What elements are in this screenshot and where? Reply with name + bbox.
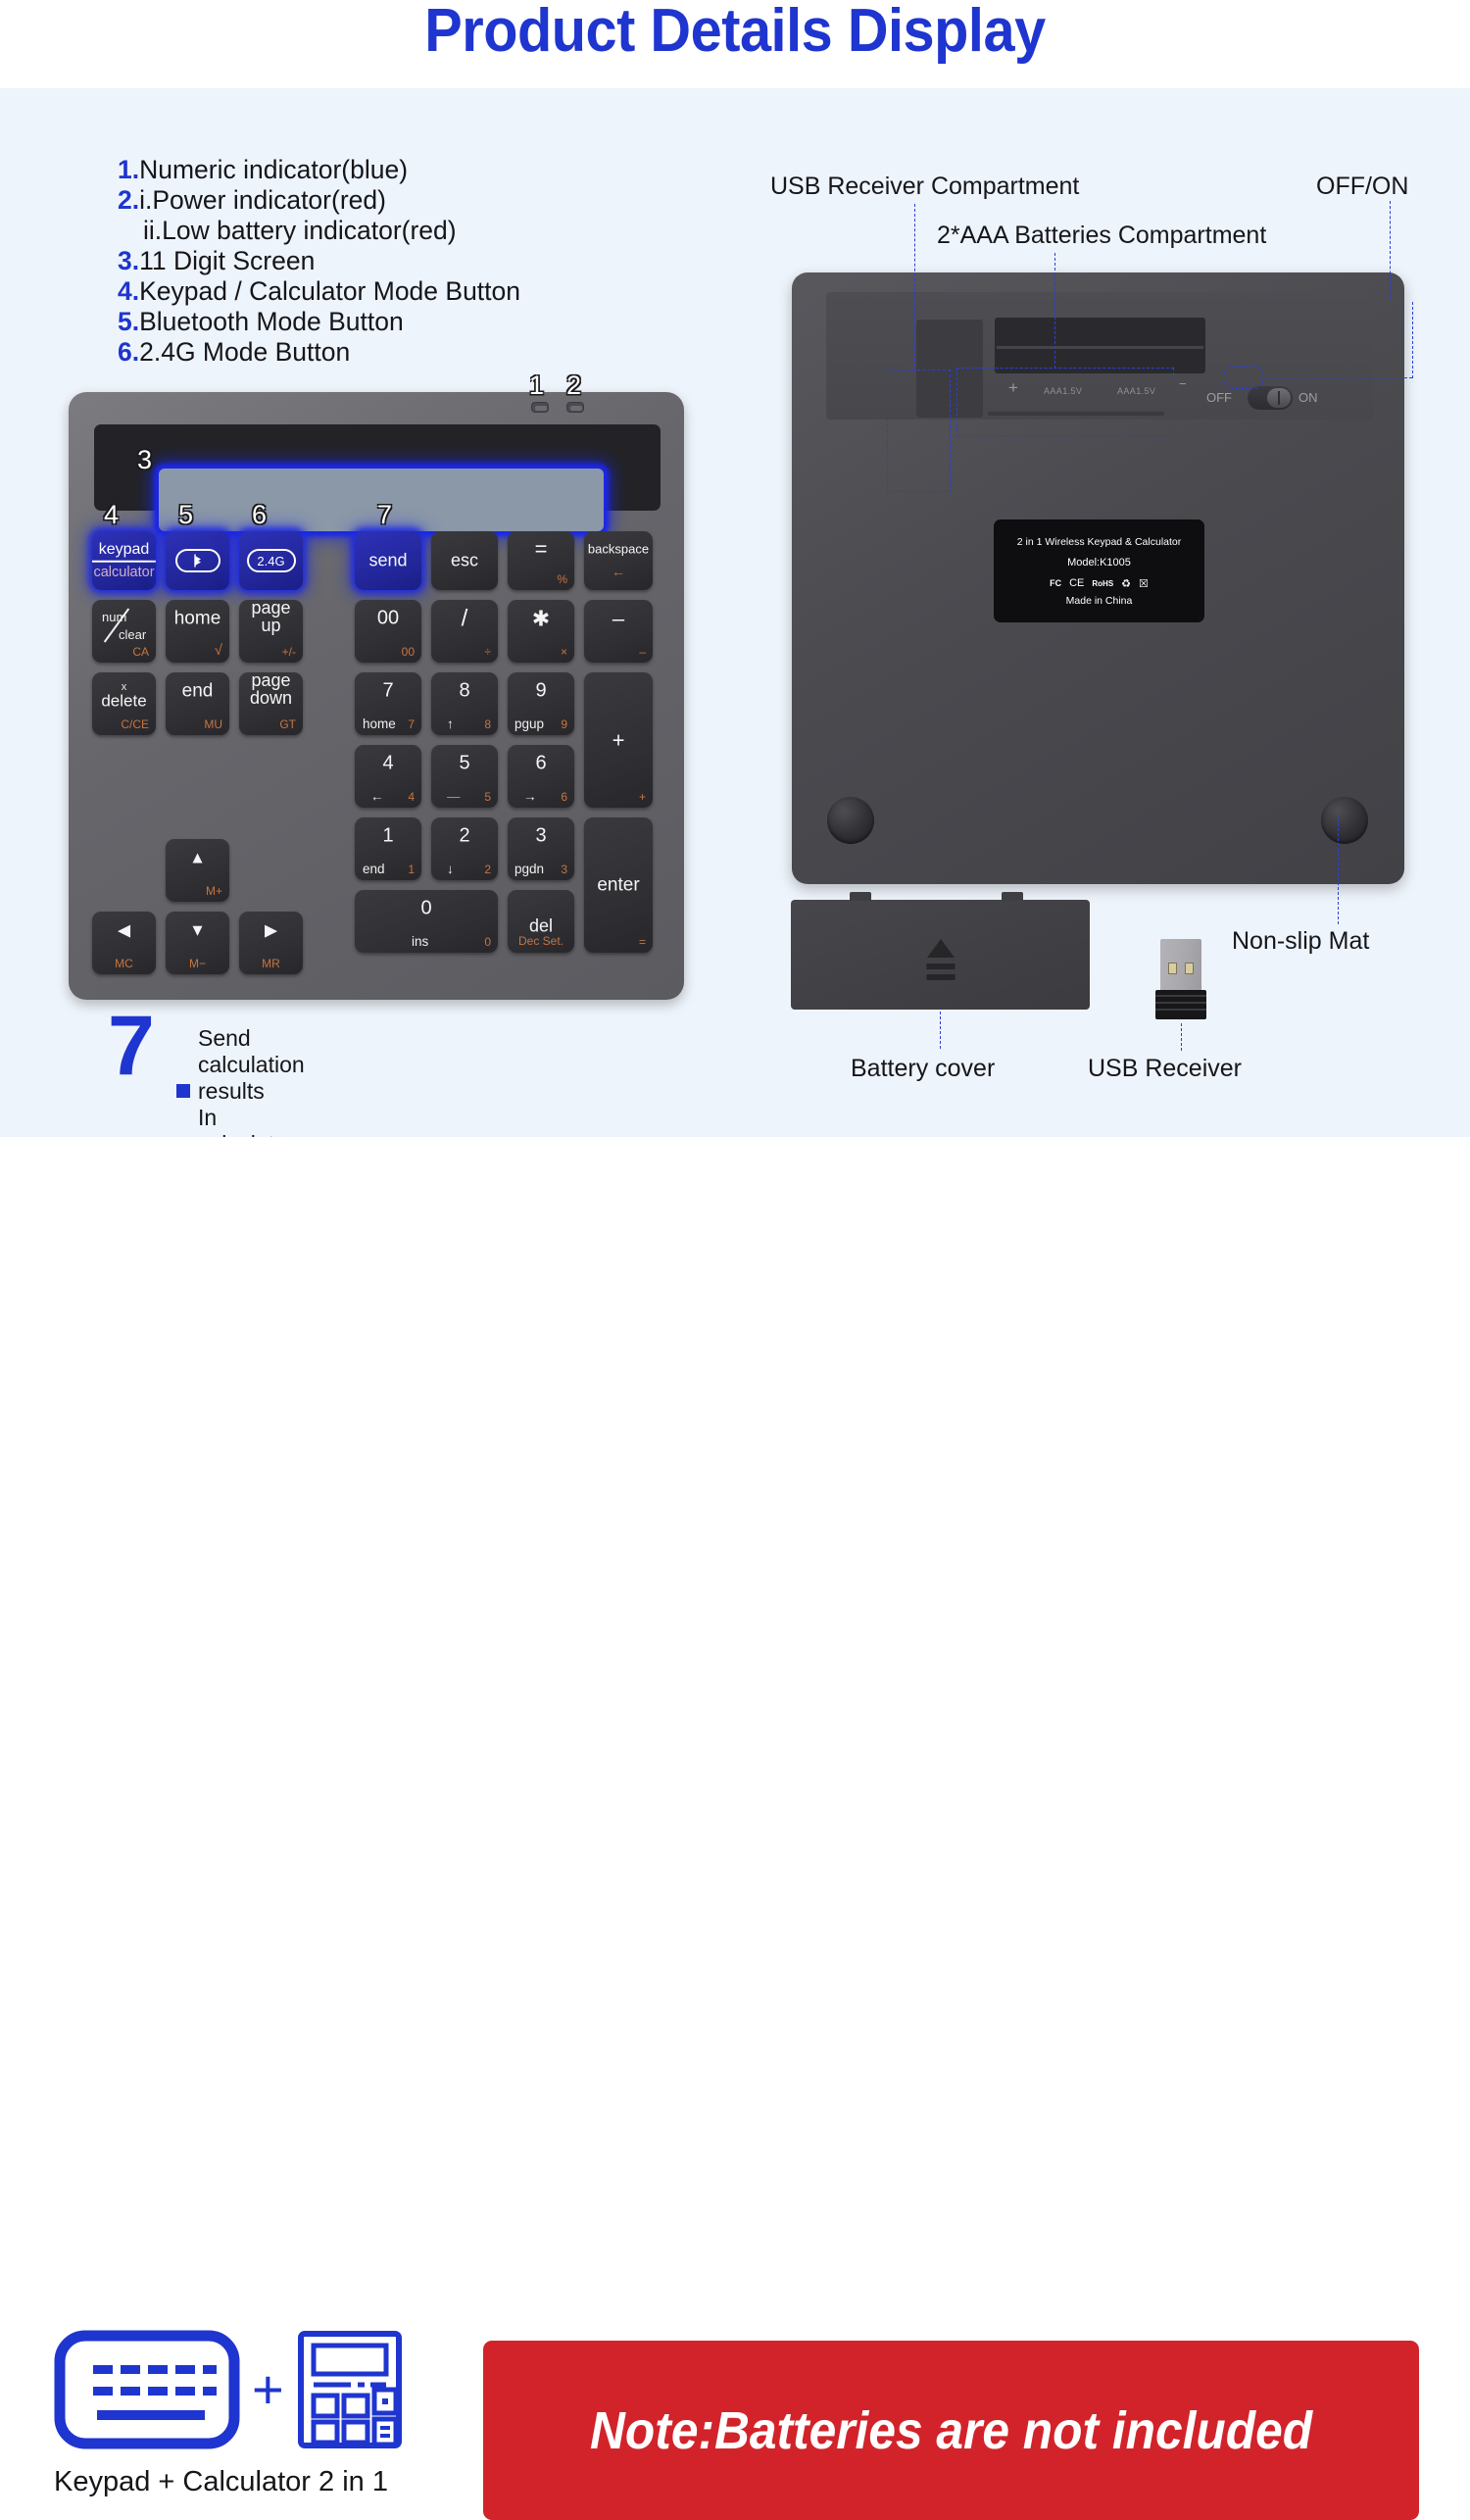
key-sub-end: end [363,862,385,876]
key-1[interactable]: 1 end 1 [355,817,421,880]
key-sub-dash: — [447,789,461,804]
key-arrow-down[interactable]: ▼ M− [166,912,229,974]
legend-number: 2. [118,185,139,215]
key-label-delete: delete [92,692,156,711]
key-equals[interactable]: = % [508,531,574,590]
keypad-body: keypad calculator 2.4G send [69,392,684,1000]
key-arrow-left[interactable]: ◀ MC [92,912,156,974]
recycle-icon: ♻ [1121,577,1131,590]
key-7[interactable]: 7 home 7 [355,672,421,735]
numeric-indicator-led [531,402,549,413]
leader-off-on [1390,201,1391,299]
key-label-up: up [261,616,280,635]
keypad-back-figure: + AAA1.5V AAA1.5V − OFF ON 2 in 1 Wirele… [782,263,1419,895]
bluetooth-icon [175,549,220,572]
annotation-off-on: OFF/ON [1316,173,1408,201]
keyboard-icon [54,2330,240,2449]
annotation-non-slip-mat: Non-slip Mat [1232,927,1369,956]
combo-caption: Keypad + Calculator 2 in 1 [54,2466,388,2498]
guide-switch-leader-h [1262,377,1412,378]
key-label-backspace: backspace [584,540,653,559]
key-send[interactable]: send [355,531,421,590]
key-sub-ca: CA [132,645,149,659]
legend-number: 3. [118,246,139,275]
key-sub-6: 6 [561,790,567,804]
annotation-battery-cover: Battery cover [851,1055,995,1083]
device-back-shell: + AAA1.5V AAA1.5V − OFF ON 2 in 1 Wirele… [792,272,1404,884]
key-sub-percent: % [557,572,567,586]
key-label-asterisk: ✱ [508,610,574,628]
key-label-00: 00 [355,610,421,628]
leader-usb-compartment [914,204,915,371]
key-esc[interactable]: esc [431,531,498,590]
key-minus[interactable]: – – [584,600,653,663]
usb-ridge-2 [1155,1002,1206,1004]
usb-pin-left [1168,963,1177,974]
leader-battery-cover [940,1012,941,1049]
key-label-7: 7 [355,682,421,701]
key-delete[interactable]: x delete C/CE [92,672,156,735]
key-del[interactable]: del Dec Set. [508,890,574,953]
callout-2: 2 [566,371,581,401]
key-8[interactable]: 8 ↑ 8 [431,672,498,735]
power-switch[interactable] [1248,386,1293,410]
non-slip-foot-bottom-left [827,797,874,844]
key-sub-3: 3 [561,863,567,876]
key-label-del: del [508,917,574,936]
key-2[interactable]: 2 ↓ 2 [431,817,498,880]
legend-number: 6. [118,337,139,367]
callout-3: 3 [137,445,152,475]
key-num-clear[interactable]: num clear CA [92,600,156,663]
legend-text: Numeric indicator(blue) [139,155,408,184]
key-label-9: 9 [508,682,574,701]
key-label-1: 1 [355,827,421,846]
key-sub-downarrow: ↓ [447,862,454,876]
key-9[interactable]: 9 pgup 9 [508,672,574,735]
power-switch-knob[interactable] [1267,388,1291,408]
key-label-3: 3 [508,827,574,846]
page-title: Product Details Display [52,0,1419,66]
polarity-plus: + [1008,378,1018,398]
key-sub-decset: Dec Set. [508,934,574,948]
key-sub-mminus: M− [166,957,229,970]
key-sub-ins: ins [412,934,428,949]
key-label-5: 5 [431,755,498,773]
callout-5: 5 [178,500,193,530]
fcc-icon: FC [1050,578,1061,588]
key-sub-mr: MR [239,957,303,970]
key-sub-pgup: pgup [514,716,544,731]
key-6[interactable]: 6 → 6 [508,745,574,808]
legend-text: Bluetooth Mode Button [139,307,404,336]
bluetooth-glyph [192,553,204,568]
key-arrow-up[interactable]: ▲ M+ [166,839,229,902]
key-keypad-calculator-mode[interactable]: keypad calculator [92,531,156,590]
key-sub-equals: = [639,935,646,949]
key-label-send: send [355,552,421,570]
battery-panel: + AAA1.5V AAA1.5V − OFF ON [826,292,1373,420]
cover-tab-left [850,892,871,901]
key-label-secondary: calculator [92,564,156,580]
key-label-down: down [250,688,292,708]
legend-text: i.Power indicator(red) [139,185,386,215]
key-end[interactable]: end MU [166,672,229,735]
key-sub-cce: C/CE [121,717,149,731]
arrow-left-icon: ◀ [92,921,156,940]
key-label-esc: esc [431,552,498,570]
key-label-clear: clear [119,627,146,642]
key-sub-minus: – [639,645,646,659]
usb-receiver [1151,939,1211,1023]
leader-usb-receiver [1181,1023,1182,1051]
usb-pin-right [1185,963,1194,974]
key-5[interactable]: 5 — 5 [431,745,498,808]
key-sub-gt: GT [279,717,296,731]
key-sub-uparrow: ↑ [447,716,454,731]
key-sub-home: home [363,716,396,731]
callout-4: 4 [104,500,119,530]
usb-receiver-compartment [916,320,983,418]
arrow-right-icon: ▶ [239,921,303,940]
product-spec-label: 2 in 1 Wireless Keypad & Calculator Mode… [994,519,1204,622]
product-label-line1: 2 in 1 Wireless Keypad & Calculator [1017,536,1182,548]
key-sub-divide: ÷ [484,645,491,659]
cover-notch [988,412,1164,416]
polarity-minus: − [1179,376,1187,391]
cover-arrow-icon [927,939,955,958]
key-sub-rightarrow: → [523,789,537,804]
non-slip-mat [1321,797,1368,844]
key-sub-0: 0 [484,935,491,949]
legend-text: 2.4G Mode Button [139,337,350,367]
battery-cover [791,900,1090,1010]
annotation-usb-receiver: USB Receiver [1088,1055,1242,1083]
key-sub-4: 4 [408,790,415,804]
key-label-plus: + [584,731,653,750]
item-7-number: 7 [108,1004,155,1088]
key-page-down[interactable]: page down GT [239,672,303,735]
legend-item-2: 2.i.Power indicator(red) [118,185,520,216]
leader-battery-compartment [1054,253,1055,369]
key-label-end: end [166,682,229,701]
leader-non-slip-mat [1338,818,1339,924]
key-sub-backarrow: ← [584,564,653,579]
key-label-8: 8 [431,682,498,701]
key-sub-sqrt: √ [215,642,222,659]
legend-list: 1.Numeric indicator(blue) 2.i.Power indi… [118,155,520,368]
combo-icon-group: + [54,2328,456,2450]
key-enter[interactable]: enter = [584,817,653,953]
product-label-origin: Made in China [1066,595,1133,607]
aaa-batteries-compartment [995,318,1205,373]
legend-item-5: 5.Bluetooth Mode Button [118,307,520,337]
key-sub-5: 5 [484,790,491,804]
keypad-front-figure: keypad calculator 2.4G send [59,384,696,1012]
legend-number: 5. [118,307,139,336]
key-backspace[interactable]: backspace ← [584,531,653,590]
usb-ridge-1 [1155,995,1206,997]
key-arrow-right[interactable]: ▶ MR [239,912,303,974]
cover-bar-2 [926,974,955,980]
annotation-batteries-compartment: 2*AAA Batteries Compartment [937,222,1266,250]
usb-connector-shell [1160,939,1201,990]
top-panel: Product Details Display 1.Numeric indica… [0,0,1470,1137]
calculator-icon [296,2329,404,2450]
annotation-usb-compartment: USB Receiver Compartment [770,173,1079,201]
key-sub-7: 7 [408,717,415,731]
switch-label-on: ON [1298,390,1318,405]
key-label-6: 6 [508,755,574,773]
cover-tab-right [1002,892,1023,901]
note-banner: Note:Batteries are not included [483,2341,1419,2520]
key-label-primary: keypad [92,541,156,559]
power-indicator-led [566,402,584,413]
usb-ridge-3 [1155,1009,1206,1011]
legend-text: ii.Low battery indicator(red) [143,216,457,245]
legend-item-4: 4.Keypad / Calculator Mode Button [118,276,520,307]
key-sub-leftarrow: ← [370,789,384,804]
note-text: Note:Batteries are not included [590,2400,1312,2461]
key-page-up[interactable]: page up +/- [239,600,303,663]
legend-number: 4. [118,276,139,306]
key-label-equals: = [508,540,574,559]
key-label-0: 0 [355,900,498,918]
rohs-icon: RoHS [1092,579,1113,588]
key-sub-9: 9 [561,717,567,731]
key-label-home: home [166,610,229,628]
key-bluetooth-mode[interactable] [166,531,229,590]
item-7-line1: Send calculation results [198,1025,305,1105]
legend-text: Keypad / Calculator Mode Button [139,276,520,306]
key-sub-8: 8 [484,717,491,731]
key-sub-00: 00 [402,645,415,659]
key-label-24g: 2.4G [247,549,296,572]
arrow-down-icon: ▼ [166,921,229,940]
key-0[interactable]: 0 ins 0 [355,890,498,953]
key-sub-plus: + [639,790,646,804]
key-sub-mc: MC [92,957,156,970]
key-label-minus: – [584,610,653,628]
plus-icon: + [252,2362,284,2417]
key-multiply[interactable]: ✱ × [508,600,574,663]
product-label-model: Model:K1005 [1067,557,1131,568]
key-label-enter: enter [584,876,653,895]
arrow-up-icon: ▲ [166,849,229,867]
legend-item-3: 3.11 Digit Screen [118,246,520,276]
callout-6: 6 [252,500,267,530]
weee-bin-icon: ☒ [1139,577,1149,590]
key-divide[interactable]: / ÷ [431,600,498,663]
key-label-slash: / [431,610,498,628]
legend-item-6: 6.2.4G Mode Button [118,337,520,368]
callout-7: 7 [377,500,392,530]
switch-label-off: OFF [1206,390,1232,405]
screen-bezel [94,424,661,511]
legend-number: 1. [118,155,139,184]
legend-text: 11 Digit Screen [139,246,315,275]
ce-icon: CE [1069,577,1084,589]
key-label-2: 2 [431,827,498,846]
key-plus[interactable]: + + [584,672,653,808]
key-home[interactable]: home √ [166,600,229,663]
item-7-dot [176,1084,190,1098]
key-sub-mu: MU [204,717,222,731]
key-sub-mplus: M+ [206,884,222,898]
legend-item-2b: ii.Low battery indicator(red) [118,216,520,246]
key-sub-1: 1 [408,863,415,876]
key-4[interactable]: 4 ← 4 [355,745,421,808]
key-sub-2: 2 [484,863,491,876]
callout-1: 1 [529,371,544,401]
battery-slot-2-label: AAA1.5V [1117,386,1155,396]
legend-item-1: 1.Numeric indicator(blue) [118,155,520,185]
key-sub-multiply: × [561,645,567,659]
battery-divider [997,346,1203,349]
key-3[interactable]: 3 pgdn 3 [508,817,574,880]
key-sub-plusminus: +/- [282,645,296,659]
usb-body [1155,990,1206,1019]
key-label-4: 4 [355,755,421,773]
certification-row: FC CE RoHS ♻ ☒ [1050,577,1149,590]
key-divider [92,561,156,563]
key-24g-mode[interactable]: 2.4G [239,531,303,590]
bottom-band: + Keypad + Calculator 2 in 1 Note:Batter… [0,1137,1470,1393]
key-double-zero[interactable]: 00 00 [355,600,421,663]
key-sub-pgdn: pgdn [514,862,544,876]
cover-bar-1 [926,964,955,969]
battery-slot-1-label: AAA1.5V [1044,386,1082,396]
